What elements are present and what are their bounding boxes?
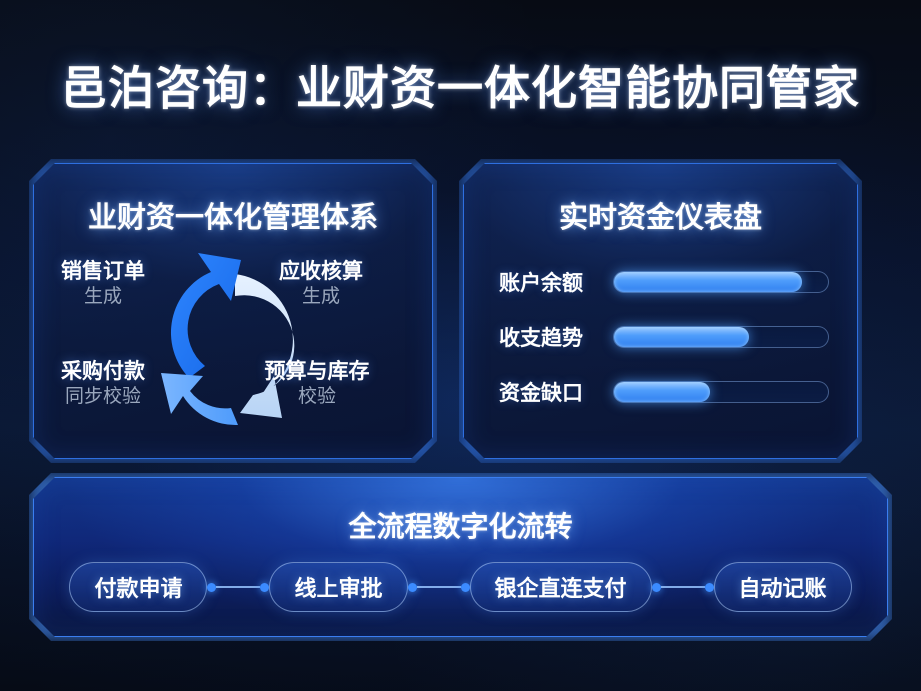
flow-step-bank-direct-payment[interactable]: 银企直连支付 [470, 562, 652, 612]
connector-dot-icon [461, 583, 470, 592]
metric-row: 资金缺口 [499, 379, 829, 405]
metric-row: 账户余额 [499, 269, 829, 295]
bottom-card-title: 全流程数字化流转 [34, 505, 887, 545]
cycle-label-main: 采购付款 [28, 360, 178, 384]
slide-canvas: 邑泊咨询：业财资一体化智能协同管家 业财资一体化管理体系 [0, 0, 921, 691]
fund-dashboard-card: 实时资金仪表盘 账户余额 收支趋势 资金缺口 [463, 163, 858, 459]
metric-progress-fill [614, 382, 710, 402]
flow-connector [408, 583, 470, 592]
connector-line [661, 586, 705, 588]
digital-flow-card: 全流程数字化流转 付款申请 线上审批 银企直连支付 自动记账 [33, 477, 888, 637]
connector-dot-icon [652, 583, 661, 592]
cycle-label-sub: 生成 [246, 286, 396, 308]
metric-progress-track [613, 381, 829, 403]
metric-label: 账户余额 [499, 267, 599, 297]
connector-dot-icon [705, 583, 714, 592]
metric-progress-track [613, 271, 829, 293]
flow-step-list: 付款申请 线上审批 银企直连支付 自动记账 [34, 560, 887, 614]
metric-row: 收支趋势 [499, 324, 829, 350]
flow-step-payment-request[interactable]: 付款申请 [69, 562, 207, 612]
flow-connector [207, 583, 269, 592]
page-title-container: 邑泊咨询：业财资一体化智能协同管家 [0, 52, 921, 118]
metric-label: 资金缺口 [499, 377, 599, 407]
metric-progress-fill [614, 272, 802, 292]
connector-dot-icon [408, 583, 417, 592]
cycle-label-sales-order: 销售订单 生成 [28, 260, 178, 308]
connector-line [216, 586, 260, 588]
metric-label: 收支趋势 [499, 322, 599, 352]
metric-progress-track [613, 326, 829, 348]
connector-dot-icon [260, 583, 269, 592]
cycle-label-sub: 生成 [28, 286, 178, 308]
cycle-label-budget-inventory: 预算与库存 校验 [242, 360, 392, 408]
connector-dot-icon [207, 583, 216, 592]
metric-progress-fill [614, 327, 749, 347]
connector-line [417, 586, 461, 588]
left-card-title: 业财资一体化管理体系 [34, 194, 432, 236]
page-title: 邑泊咨询：业财资一体化智能协同管家 [61, 52, 860, 118]
right-card-title: 实时资金仪表盘 [464, 194, 857, 236]
management-system-card: 业财资一体化管理体系 [33, 163, 433, 459]
flow-step-online-approval[interactable]: 线上审批 [269, 562, 407, 612]
cycle-label-sub: 校验 [242, 386, 392, 408]
cycle-label-sub: 同步校验 [28, 386, 178, 408]
cycle-label-main: 预算与库存 [242, 360, 392, 384]
cycle-label-main: 应收核算 [246, 260, 396, 284]
cycle-label-receivable: 应收核算 生成 [246, 260, 396, 308]
cycle-label-purchase-payment: 采购付款 同步校验 [28, 360, 178, 408]
flow-connector [652, 583, 714, 592]
flow-step-auto-bookkeeping[interactable]: 自动记账 [714, 562, 852, 612]
cycle-label-main: 销售订单 [28, 260, 178, 284]
